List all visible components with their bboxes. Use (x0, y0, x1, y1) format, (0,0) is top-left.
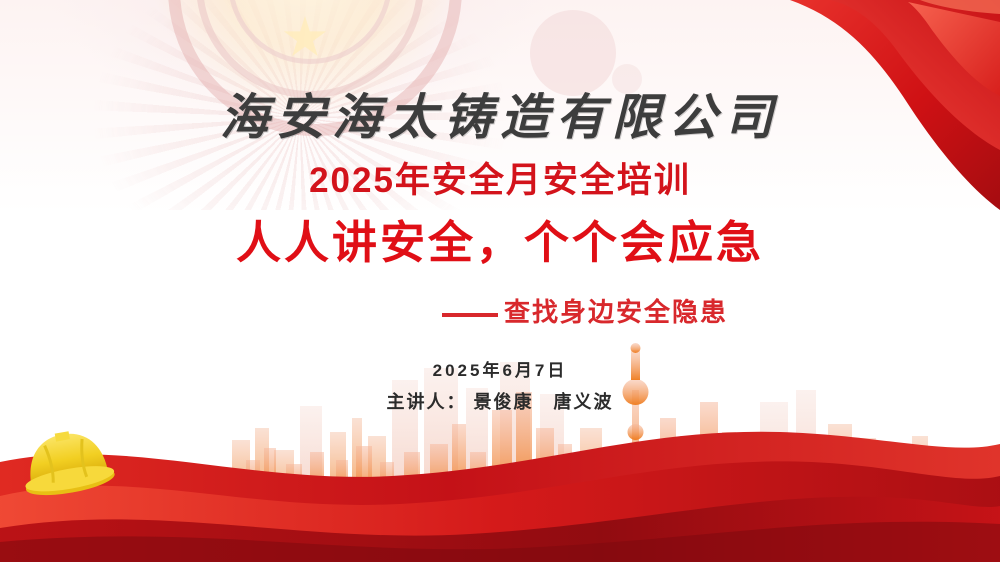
slide-text-content: 海安海太铸造有限公司 2025年安全月安全培训 人人讲安全，个个会应急 查找身边… (0, 0, 1000, 562)
subline: 查找身边安全隐患 (504, 292, 728, 329)
date-text: 2025年6月7日 (0, 356, 1000, 381)
training-subject: 2025年安全月安全培训 (0, 152, 1000, 203)
presentation-slide: 海安海太铸造有限公司 2025年安全月安全培训 人人讲安全，个个会应急 查找身边… (0, 0, 1000, 562)
speaker-text: 主讲人： 景俊康 唐义波 (0, 388, 1000, 414)
company-title: 海安海太铸造有限公司 (0, 78, 1000, 149)
dash-decoration (442, 313, 498, 317)
slogan: 人人讲安全，个个会应急 (0, 206, 1000, 271)
subline-row: 查找身边安全隐患 (0, 292, 1000, 329)
